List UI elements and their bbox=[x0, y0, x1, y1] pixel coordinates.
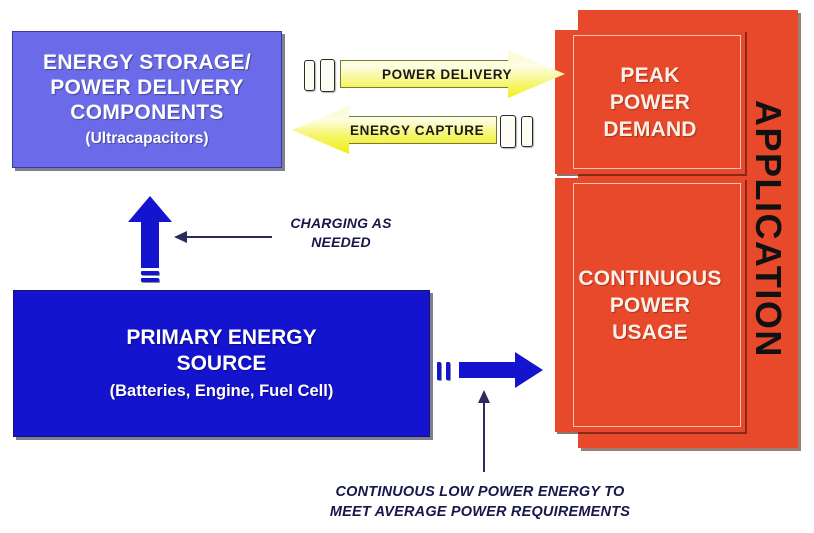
continuous-power-usage-box: CONTINUOUS POWER USAGE bbox=[555, 178, 745, 432]
charging-up-arrow bbox=[128, 196, 172, 268]
continuous-power-usage-line-2: POWER bbox=[610, 292, 690, 319]
charging-caption-line-2: NEEDED bbox=[276, 233, 406, 252]
continuous-annotation-line bbox=[483, 400, 485, 472]
energy-capture-tick-1 bbox=[500, 115, 516, 148]
continuous-power-arrow bbox=[459, 352, 543, 388]
bottom-arrow-tick-2 bbox=[446, 362, 450, 380]
charging-annotation-line bbox=[186, 236, 272, 238]
continuous-power-caption: CONTINUOUS LOW POWER ENERGY TO MEET AVER… bbox=[310, 482, 650, 522]
peak-power-demand-line-2: POWER bbox=[610, 89, 690, 116]
peak-power-demand-box: PEAK POWER DEMAND bbox=[555, 30, 745, 174]
energy-capture-arrow: ENERGY CAPTURE bbox=[292, 106, 497, 154]
continuous-power-usage-line-1: CONTINUOUS bbox=[578, 265, 721, 292]
continuous-power-usage-line-3: USAGE bbox=[612, 319, 688, 346]
charging-caption: CHARGING AS NEEDED bbox=[276, 214, 406, 252]
energy-storage-line-1: ENERGY STORAGE/ bbox=[43, 50, 251, 75]
power-delivery-arrow-label: POWER DELIVERY bbox=[382, 67, 512, 82]
energy-storage-subtitle: (Ultracapacitors) bbox=[85, 128, 208, 150]
energy-capture-arrow-label: ENERGY CAPTURE bbox=[350, 123, 484, 138]
energy-storage-line-2: POWER DELIVERY bbox=[50, 75, 244, 100]
continuous-caption-line-2: MEET AVERAGE POWER REQUIREMENTS bbox=[310, 502, 650, 522]
power-delivery-tick-1 bbox=[304, 60, 315, 91]
application-label: APPLICATION bbox=[742, 10, 794, 448]
peak-power-demand-line-3: DEMAND bbox=[603, 116, 696, 143]
diagram-canvas: PEAK POWER DEMAND CONTINUOUS POWER USAGE… bbox=[0, 0, 814, 533]
primary-energy-line-2: SOURCE bbox=[177, 351, 267, 377]
charging-annotation-arrowhead bbox=[174, 231, 187, 243]
continuous-caption-line-1: CONTINUOUS LOW POWER ENERGY TO bbox=[310, 482, 650, 502]
primary-energy-subtitle: (Batteries, Engine, Fuel Cell) bbox=[110, 379, 334, 403]
bottom-arrow-tick-1 bbox=[437, 362, 441, 380]
charging-arrow-tick-2 bbox=[141, 278, 159, 282]
primary-energy-line-1: PRIMARY ENERGY bbox=[126, 325, 316, 351]
continuous-annotation-arrowhead bbox=[478, 390, 490, 403]
peak-power-demand-line-1: PEAK bbox=[620, 62, 679, 89]
charging-arrow-tick-1 bbox=[141, 271, 159, 275]
energy-storage-box: ENERGY STORAGE/ POWER DELIVERY COMPONENT… bbox=[12, 31, 282, 168]
charging-caption-line-1: CHARGING AS bbox=[276, 214, 406, 233]
application-label-text: APPLICATION bbox=[747, 100, 789, 358]
power-delivery-arrow: POWER DELIVERY bbox=[340, 50, 565, 98]
primary-energy-source-box: PRIMARY ENERGY SOURCE (Batteries, Engine… bbox=[13, 290, 430, 437]
energy-storage-line-3: COMPONENTS bbox=[70, 100, 224, 125]
power-delivery-tick-2 bbox=[320, 59, 335, 92]
energy-capture-tick-2 bbox=[521, 116, 533, 147]
